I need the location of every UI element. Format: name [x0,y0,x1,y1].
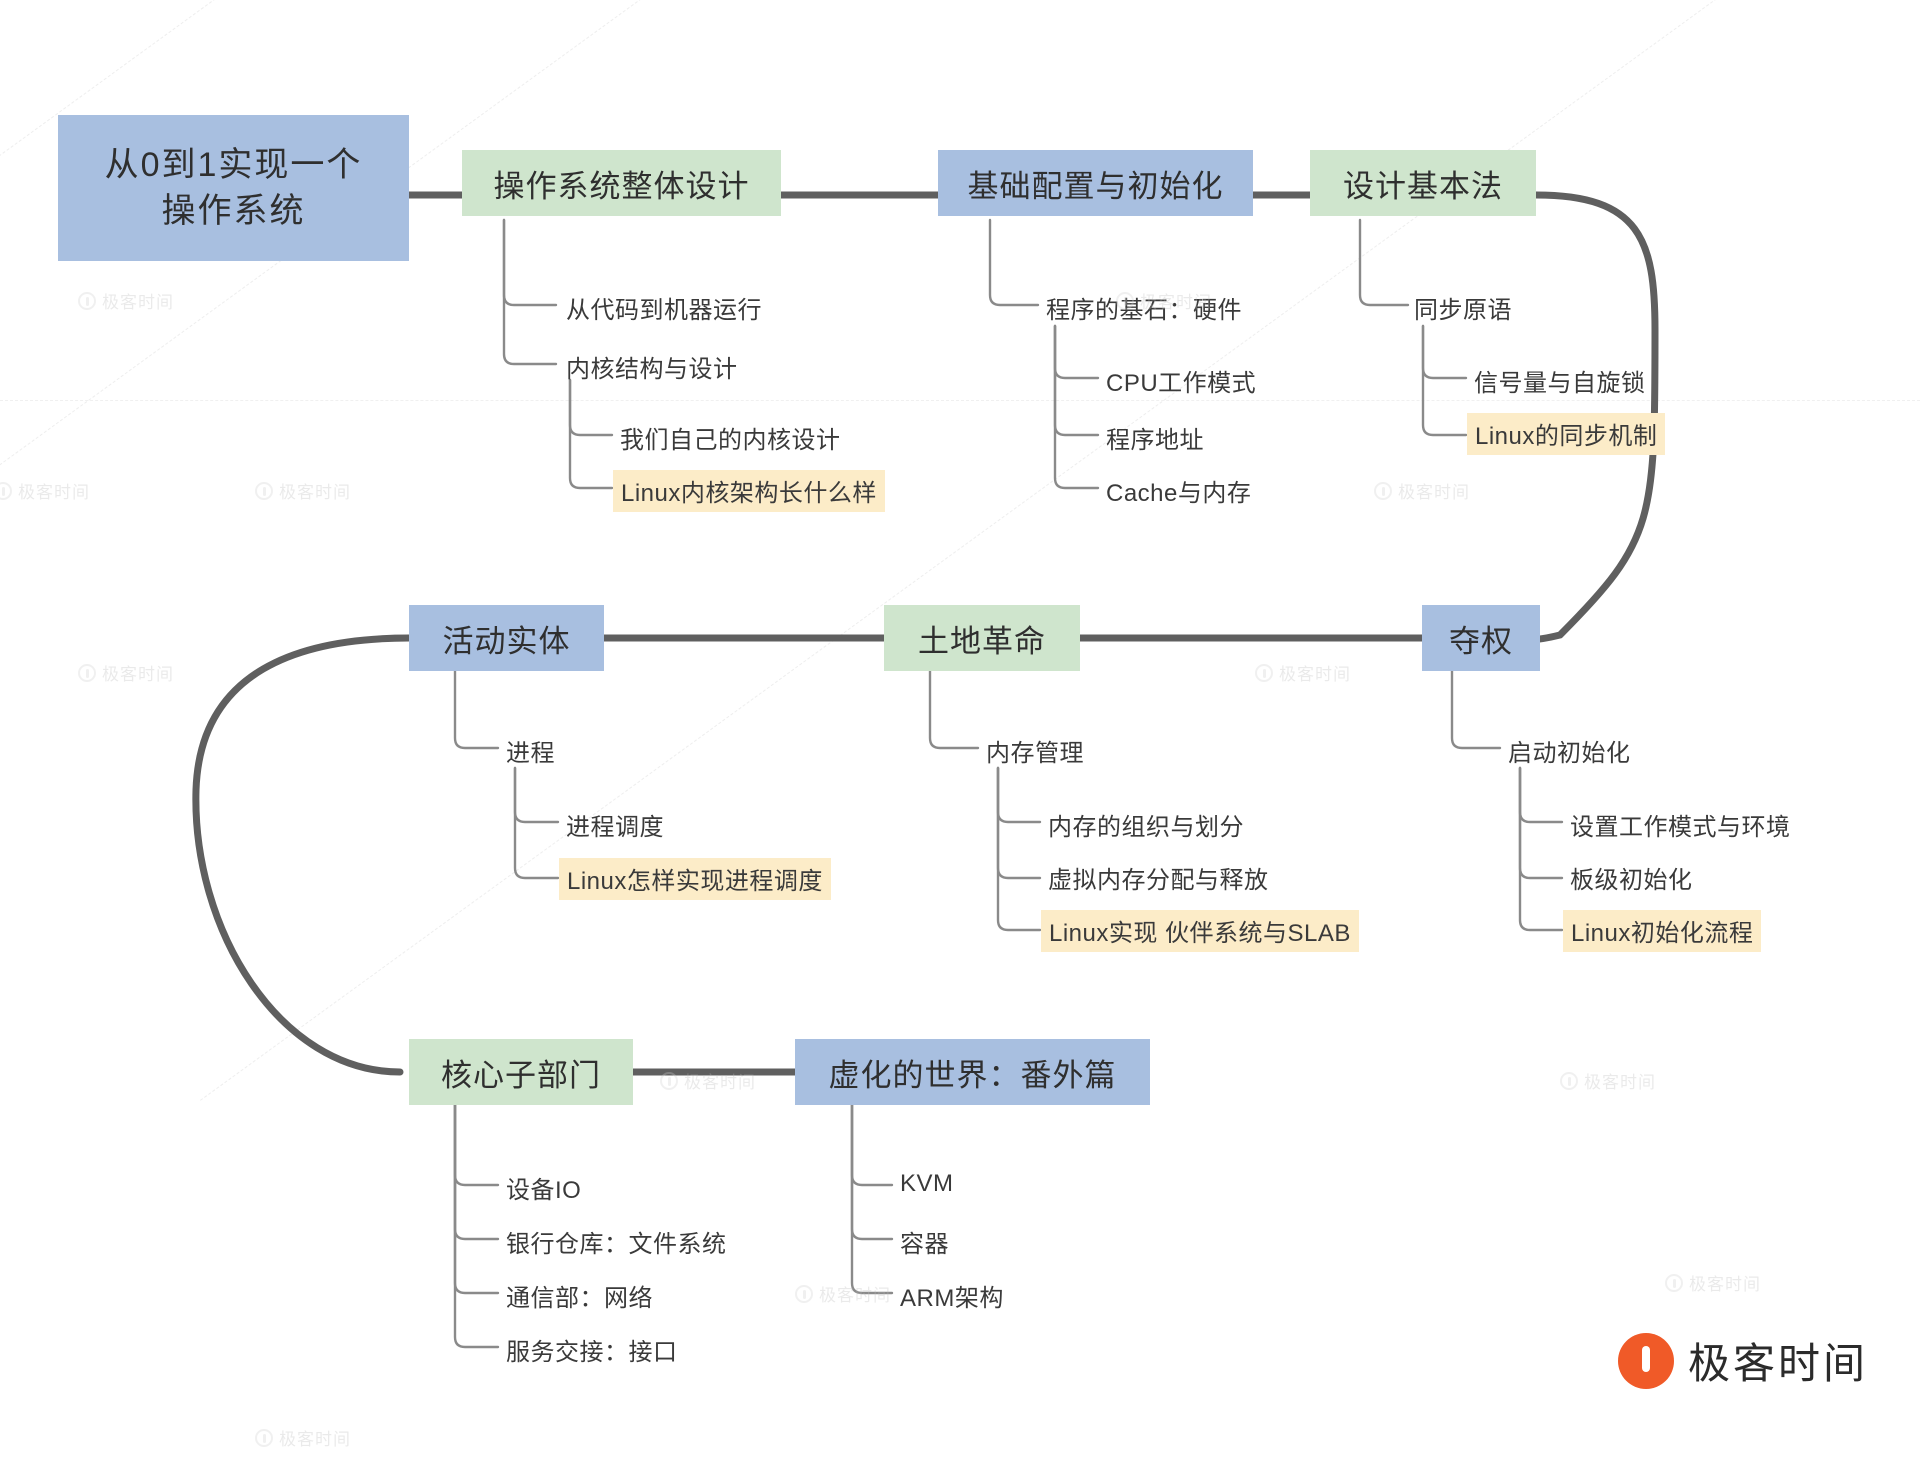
watermark: 极客时间 [1374,478,1470,503]
root-node[interactable]: 从0到1实现一个 操作系统 [58,115,409,261]
leaf-item[interactable]: 内存管理 [986,733,1084,768]
leaf-item[interactable]: 信号量与自旋锁 [1474,363,1646,398]
topic-node-8-label: 虚化的世界：番外篇 [829,1050,1117,1095]
leaf-item-highlighted[interactable]: Linux怎样实现进程调度 [559,858,831,900]
watermark-pin-icon [1665,1274,1683,1292]
topic-node-1-label: 操作系统整体设计 [494,161,750,206]
topic-node-7[interactable]: 核心子部门 [409,1039,633,1105]
leaf-item[interactable]: 银行仓库：文件系统 [506,1224,727,1259]
watermark-text: 极客时间 [279,478,351,503]
topic-node-4[interactable]: 活动实体 [409,605,604,671]
leaf-item[interactable]: 启动初始化 [1508,733,1631,768]
geektime-logo: 极客时间 [1618,1330,1868,1391]
watermark: 极客时间 [1255,660,1351,685]
watermark-pin-icon [795,1285,813,1303]
mindmap-canvas: 从0到1实现一个 操作系统 操作系统整体设计 基础配置与初始化 设计基本法 活动… [0,0,1920,1468]
root-title-line2: 操作系统 [162,188,306,234]
watermark: 极客时间 [255,478,351,503]
watermark-text: 极客时间 [684,1068,756,1093]
watermark-pin-icon [255,1429,273,1447]
leaf-item[interactable]: 通信部：网络 [506,1278,653,1313]
root-title-line1: 从0到1实现一个 [105,142,363,188]
watermark: 极客时间 [795,1281,891,1306]
leaf-item[interactable]: 容器 [900,1224,949,1259]
topic-node-2[interactable]: 基础配置与初始化 [938,150,1253,216]
watermark-text: 极客时间 [279,1425,351,1450]
leaf-item-highlighted[interactable]: Linux初始化流程 [1563,910,1761,952]
watermark-text: 极客时间 [102,288,174,313]
leaf-item[interactable]: 进程调度 [566,807,664,842]
leaf-item[interactable]: 从代码到机器运行 [566,290,762,325]
watermark: 极客时间 [78,660,174,685]
topic-node-2-label: 基础配置与初始化 [968,161,1224,206]
leaf-item[interactable]: 设备IO [506,1170,581,1205]
watermark-text: 极客时间 [18,478,90,503]
leaf-item[interactable]: CPU工作模式 [1106,363,1256,398]
leaf-item-highlighted[interactable]: Linux实现 伙伴系统与SLAB [1041,910,1359,952]
watermark: 极客时间 [660,1068,756,1093]
leaf-item[interactable]: 我们自己的内核设计 [620,420,841,455]
watermark-text: 极客时间 [1689,1270,1761,1295]
leaf-item[interactable]: 程序地址 [1106,420,1204,455]
leaf-item-highlighted[interactable]: Linux内核架构长什么样 [613,470,885,512]
geektime-logo-text: 极客时间 [1688,1330,1868,1391]
leaf-item[interactable]: 服务交接：接口 [506,1332,678,1367]
topic-node-6-label: 夺权 [1449,616,1513,661]
topic-node-3[interactable]: 设计基本法 [1310,150,1536,216]
watermark-text: 极客时间 [102,660,174,685]
leaf-item[interactable]: 虚拟内存分配与释放 [1048,860,1269,895]
topic-node-6[interactable]: 夺权 [1422,605,1540,671]
topic-node-5-label: 土地革命 [918,616,1046,661]
watermark-text: 极客时间 [819,1281,891,1306]
leaf-item[interactable]: 内存的组织与划分 [1048,807,1244,842]
watermark: 极客时间 [1116,288,1212,313]
watermark-pin-icon [0,482,12,500]
geektime-mark-icon [1618,1333,1674,1389]
leaf-item[interactable]: ARM架构 [900,1278,1004,1313]
watermark-pin-icon [1116,292,1134,310]
watermark-pin-icon [78,292,96,310]
watermark-text: 极客时间 [1398,478,1470,503]
watermark-pin-icon [78,664,96,682]
leaf-item[interactable]: 同步原语 [1414,290,1512,325]
watermark-text: 极客时间 [1584,1068,1656,1093]
watermark: 极客时间 [0,478,90,503]
watermark: 极客时间 [1665,1270,1761,1295]
topic-node-3-label: 设计基本法 [1343,161,1503,206]
watermark-text: 极客时间 [1279,660,1351,685]
leaf-item[interactable]: KVM [900,1170,954,1198]
leaf-item[interactable]: Cache与内存 [1106,473,1251,508]
watermark-pin-icon [1374,482,1392,500]
leaf-item[interactable]: 内核结构与设计 [566,349,738,384]
watermark-pin-icon [660,1072,678,1090]
watermark-pin-icon [1255,664,1273,682]
topic-node-5[interactable]: 土地革命 [884,605,1080,671]
topic-node-4-label: 活动实体 [443,616,571,661]
leaf-item[interactable]: 进程 [506,733,555,768]
topic-node-8[interactable]: 虚化的世界：番外篇 [795,1039,1150,1105]
watermark-pin-icon [255,482,273,500]
watermark: 极客时间 [1560,1068,1656,1093]
topic-node-1[interactable]: 操作系统整体设计 [462,150,781,216]
watermark-pin-icon [1560,1072,1578,1090]
leaf-item[interactable]: 板级初始化 [1570,860,1693,895]
watermark: 极客时间 [255,1425,351,1450]
leaf-item[interactable]: 设置工作模式与环境 [1570,807,1791,842]
leaf-item-highlighted[interactable]: Linux的同步机制 [1467,413,1665,455]
watermark-horizontal-line [0,400,1920,401]
topic-node-7-label: 核心子部门 [441,1050,601,1095]
watermark-text: 极客时间 [1140,288,1212,313]
watermark: 极客时间 [78,288,174,313]
